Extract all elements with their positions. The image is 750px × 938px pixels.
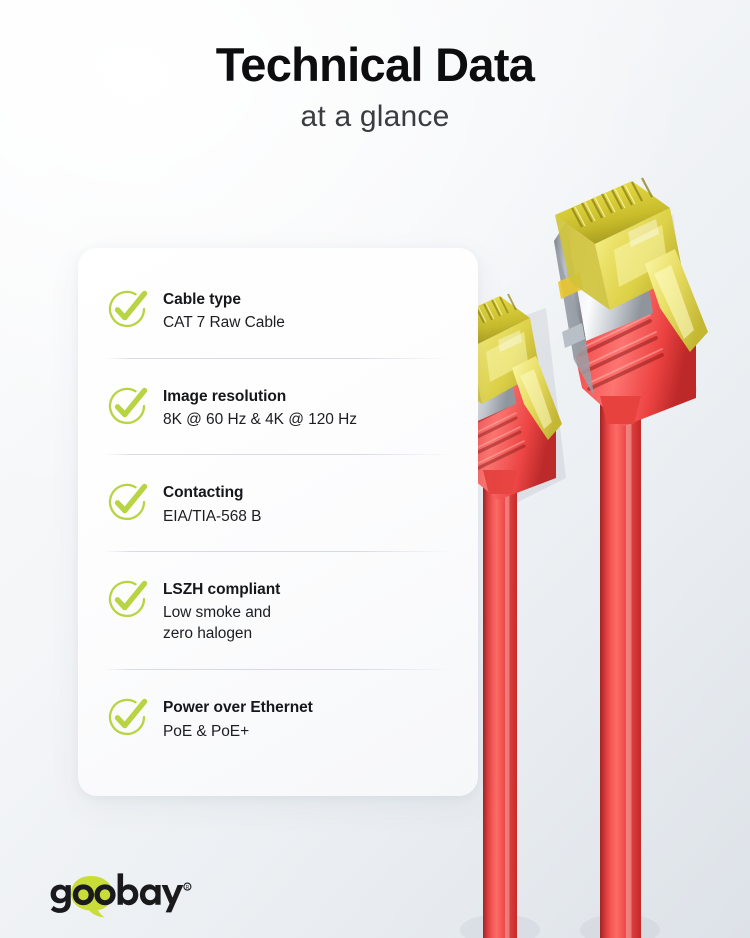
infographic-canvas: Technical Data at a glance Cable type CA… [0, 0, 750, 938]
check-circle-icon [104, 694, 150, 740]
feature-value: 8K @ 60 Hz & 4K @ 120 Hz [163, 409, 357, 430]
rj45-connector-right [554, 178, 708, 938]
registered-mark: R [184, 883, 191, 891]
feature-value: CAT 7 Raw Cable [163, 312, 285, 333]
list-item-text: Cable type CAT 7 Raw Cable [163, 286, 285, 334]
feature-value: EIA/TIA-568 B [163, 506, 261, 527]
list-item-text: Image resolution 8K @ 60 Hz & 4K @ 120 H… [163, 383, 357, 431]
divider [104, 669, 452, 670]
page-title: Technical Data [0, 0, 750, 90]
header: Technical Data at a glance [0, 0, 750, 133]
check-circle-icon [104, 576, 150, 622]
check-circle-icon [104, 383, 150, 429]
list-item: Cable type CAT 7 Raw Cable [78, 286, 478, 334]
divider [104, 551, 452, 552]
feature-value: Low smoke and zero halogen [163, 602, 280, 644]
check-circle-icon [104, 286, 150, 332]
feature-title: Cable type [163, 291, 241, 308]
check-circle-icon [104, 479, 150, 525]
goobay-logo: R [49, 872, 199, 918]
svg-text:R: R [186, 885, 190, 891]
page-subtitle: at a glance [0, 90, 750, 133]
specs-card: Cable type CAT 7 Raw Cable Image resolut… [78, 248, 478, 796]
divider [104, 358, 452, 359]
list-item: Power over Ethernet PoE & PoE+ [78, 694, 478, 742]
list-item: Contacting EIA/TIA-568 B [78, 479, 478, 527]
feature-title: Image resolution [163, 388, 286, 405]
feature-value: PoE & PoE+ [163, 721, 313, 742]
list-item: Image resolution 8K @ 60 Hz & 4K @ 120 H… [78, 383, 478, 431]
list-item-text: LSZH compliant Low smoke and zero haloge… [163, 576, 280, 645]
list-item-text: Power over Ethernet PoE & PoE+ [163, 694, 313, 742]
feature-title: Contacting [163, 484, 243, 501]
logo-wordmark [51, 873, 184, 913]
feature-title: Power over Ethernet [163, 699, 313, 716]
divider [104, 454, 452, 455]
list-item-text: Contacting EIA/TIA-568 B [163, 479, 261, 527]
specs-list: Cable type CAT 7 Raw Cable Image resolut… [78, 248, 478, 796]
list-item: LSZH compliant Low smoke and zero haloge… [78, 576, 478, 645]
feature-title: LSZH compliant [163, 581, 280, 598]
